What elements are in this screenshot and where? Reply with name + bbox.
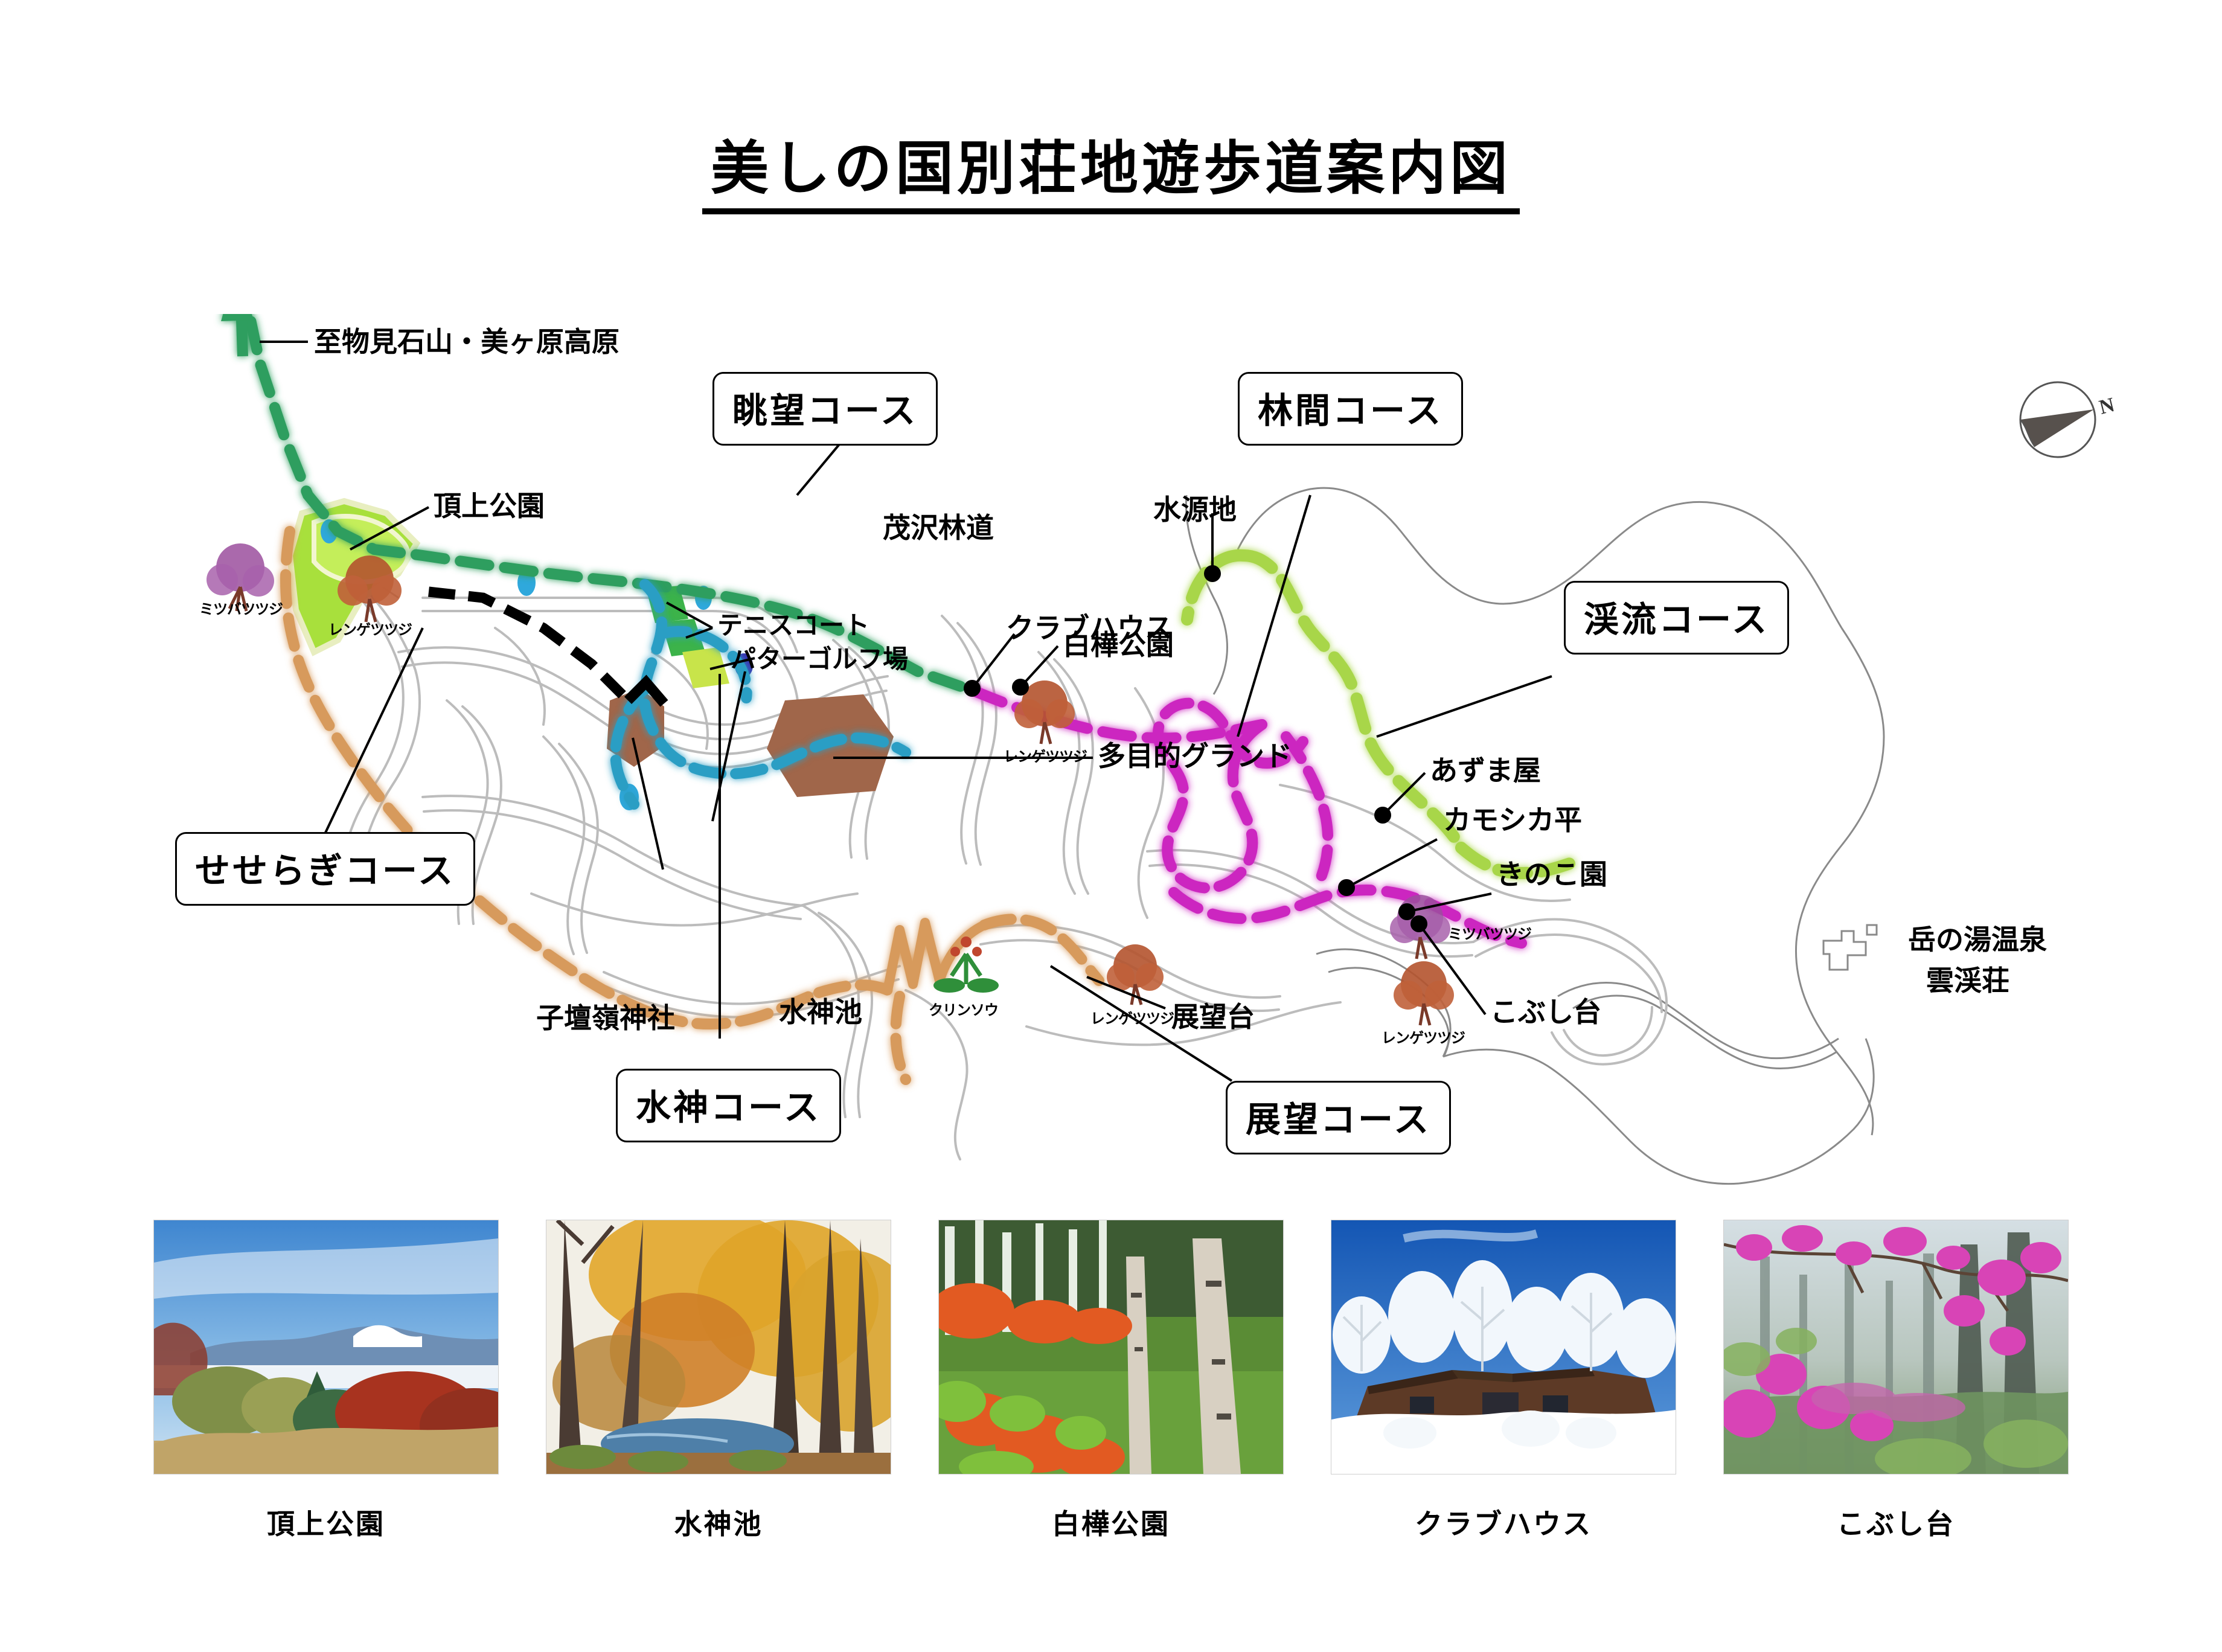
label-kobushidai: こぶし台 [1490,996,1601,1028]
course-label-suijin[interactable]: 水神コース [616,1069,841,1142]
title-block: 美しの国別荘地遊歩道案内図 [0,139,2222,214]
photo-caption-club-house: クラブハウス [1415,1502,1592,1542]
photo-shirakaba-koen[interactable] [938,1220,1284,1474]
map-canvas[interactable]: 眺望コース 林間コース 渓流コース せせらぎコース 水神コース 展望コース 至物… [0,314,2222,1189]
label-tennis-court: テニスコート [717,611,869,640]
flora-label-rengetsutsuji-east: レンゲツツジ [1382,1030,1465,1047]
label-to-monomiishiyama: 至物見石山・美ヶ原高原 [314,326,620,358]
label-kodaremine-jinja: 子壇嶺神社 [536,1002,675,1034]
photo-caption-suijin-ike: 水神池 [674,1502,763,1542]
flora-label-rengetsutsuji-center: レンゲツツジ [1004,749,1087,766]
flora-label-mitsubatsutsuji-east: ミツバツツジ [1448,926,1531,943]
label-kamoshikadaira: カモシカ平 [1443,804,1582,836]
compass-north-letter: N [2097,394,2117,419]
label-mozawa-rindo: 茂沢林道 [883,512,994,544]
villa-road-network [338,574,1666,1159]
flora-label-mitsubatsutsuji-nw: ミツバツツジ [199,601,283,618]
photo-cell-kobushidai[interactable]: こぶし台 [1724,1220,2068,1542]
label-kinokoen: きのこ園 [1496,859,1607,891]
photo-caption-shirakaba-koen: 白樺公園 [1052,1502,1170,1542]
photo-kobushidai[interactable] [1723,1220,2069,1474]
course-label-keiryu[interactable]: 渓流コース [1564,581,1789,655]
photo-chojo-koen[interactable] [153,1220,499,1474]
course-label-chobo[interactable]: 眺望コース [712,372,938,446]
photo-cell-suijin-ike[interactable]: 水神池 [546,1220,891,1542]
course-label-tenbo[interactable]: 展望コース [1226,1081,1451,1154]
flora-label-rengetsutsuji-nw: レンゲツツジ [328,622,412,639]
page-title: 美しの国別荘地遊歩道案内図 [702,139,1520,214]
label-club-house: クラブハウス [1006,612,1173,644]
course-label-rinkan[interactable]: 林間コース [1238,372,1463,446]
photo-cell-chojo-koen[interactable]: 頂上公園 [154,1220,498,1542]
photo-club-house[interactable] [1331,1220,1676,1474]
photo-cell-club-house[interactable]: クラブハウス [1331,1220,1676,1542]
label-chojo-koen: 頂上公園 [434,490,545,522]
label-suigenchi: 水源地 [1153,494,1237,526]
course-label-seseragi[interactable]: せせらぎコース [175,832,475,906]
photo-cell-shirakaba-koen[interactable]: 白樺公園 [939,1220,1283,1542]
flora-label-rengetsutsuji-south: レンゲツツジ [1090,1011,1174,1028]
photo-gallery: 頂上公園 [0,1220,2222,1606]
label-tenbodai: 展望台 [1171,1001,1255,1033]
label-putter-golf: パターゴルフ場 [731,645,908,674]
label-suijin-ike: 水神池 [779,996,862,1028]
label-takenoyu-onsen: 岳の湯温泉 [1908,924,2047,956]
label-unkeiso: 雲渓荘 [1926,965,2009,997]
photo-caption-chojo-koen: 頂上公園 [267,1502,385,1542]
compass-rose: N [2011,362,2125,477]
unkeiso-building-icon [1823,925,1877,970]
label-tamokuteki-grand: 多目的グランド [1098,740,1292,772]
photo-caption-kobushidai: こぶし台 [1837,1502,1955,1542]
label-azumaya: あずま屋 [1430,755,1541,787]
flora-label-kurinso: クリンソウ [929,1002,998,1019]
rengetsutsuji-icon-east [1394,961,1454,1025]
photo-suijin-ike[interactable] [546,1220,891,1474]
